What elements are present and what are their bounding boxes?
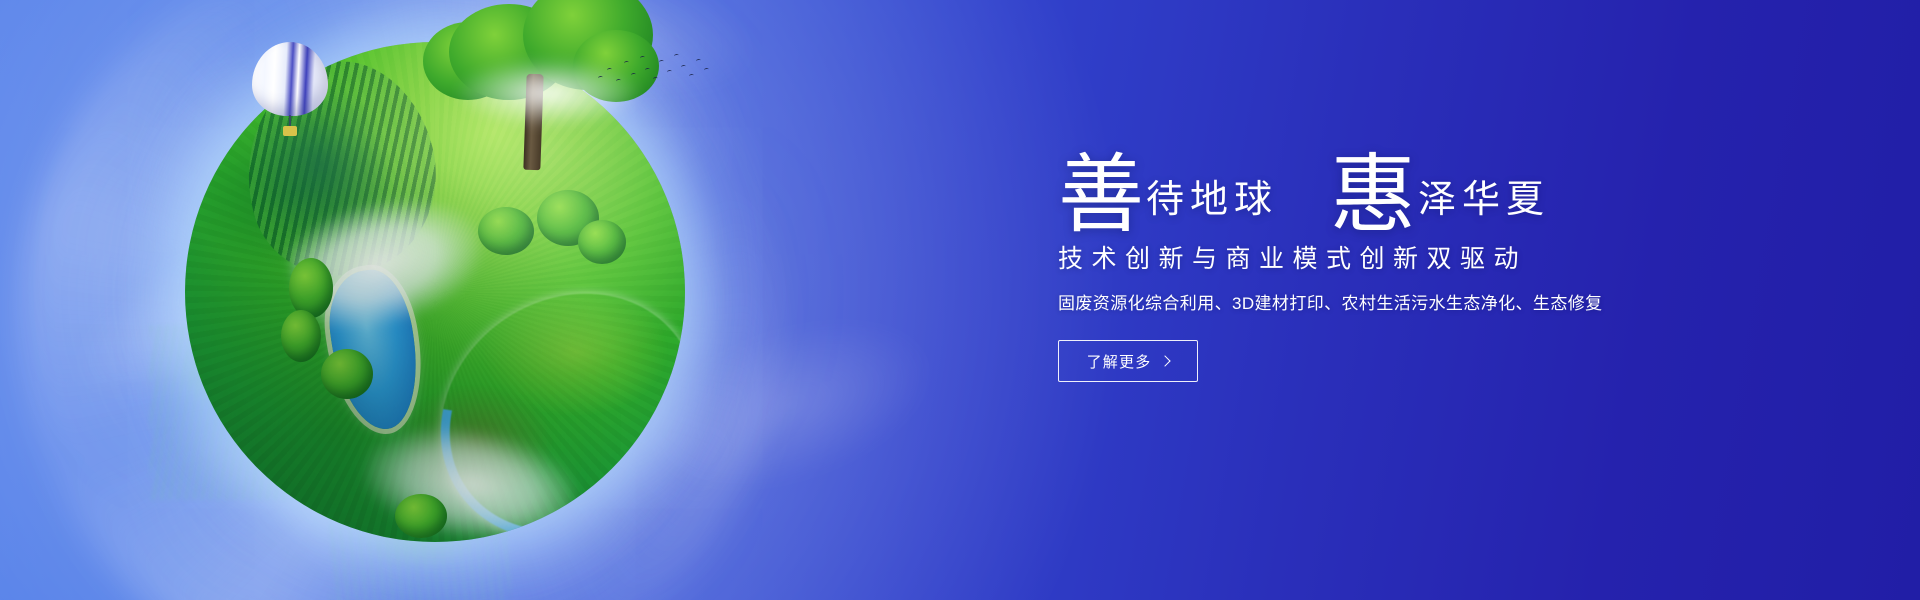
shrub [395,494,447,538]
shrub [537,190,599,246]
page-description: 固废资源化综合利用、3D建材打印、农村生活污水生态净化、生态修复 [1058,289,1758,314]
shrub [281,310,321,362]
hero-copy: 善 待地球 惠 泽华夏 技术创新与商业模式创新双驱动 固废资源化综合利用、3D建… [1058,150,1758,382]
bird-flock-icon [596,50,716,90]
cloud-patch [281,181,494,343]
hot-air-balloon-icon [252,42,328,138]
lake [322,265,425,435]
shrub [605,472,663,522]
shrub [478,207,534,255]
page-title: 善 待地球 惠 泽华夏 [1058,150,1758,229]
shrub [321,349,373,399]
learn-more-button[interactable]: 了解更多 [1058,340,1198,382]
balloon-envelope [252,42,328,116]
hero-banner: 善 待地球 惠 泽华夏 技术创新与商业模式创新双驱动 固废资源化综合利用、3D建… [0,0,1920,600]
shrub [289,258,333,318]
cloud-patch [357,415,582,542]
balloon-basket [283,126,297,136]
chevron-right-icon [1160,355,1171,366]
title-big-char-2: 惠 [1330,156,1416,235]
title-small-text-2: 泽华夏 [1418,181,1550,219]
page-subtitle: 技术创新与商业模式创新双驱动 [1058,239,1758,275]
title-small-text-1: 待地球 [1146,181,1278,219]
learn-more-label: 了解更多 [1087,351,1152,372]
title-big-char-1: 善 [1058,156,1144,235]
shrub [578,220,626,264]
